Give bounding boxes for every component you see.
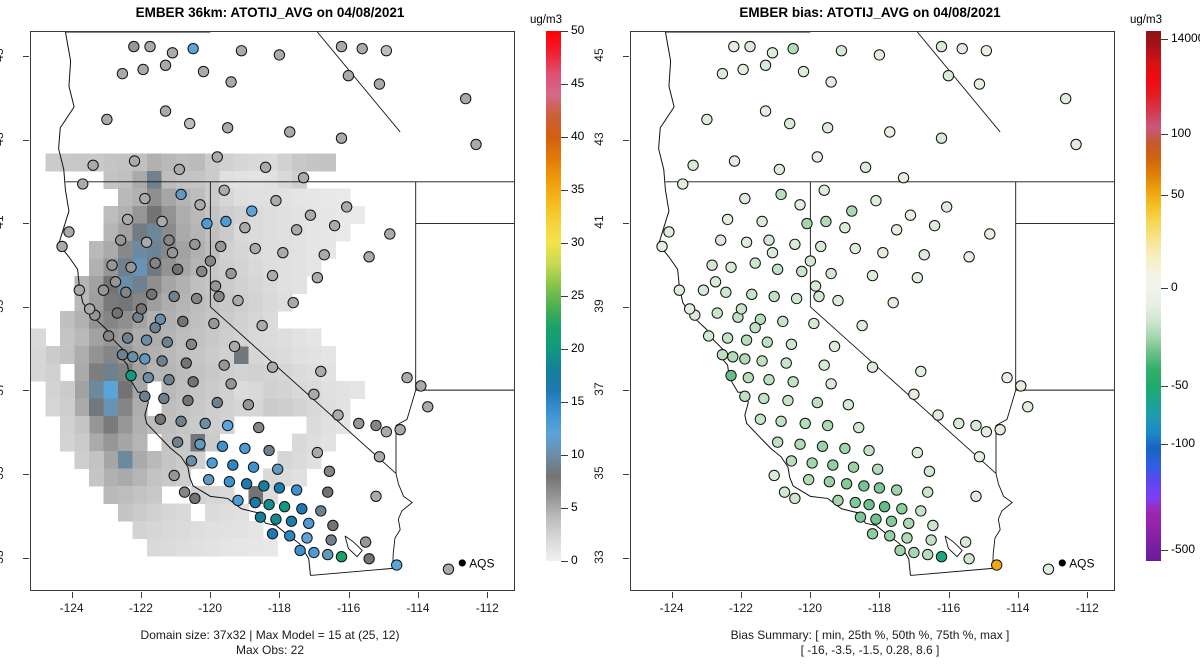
aqs-site-marker[interactable] — [891, 485, 901, 495]
aqs-site-marker[interactable] — [233, 495, 243, 505]
aqs-site-marker[interactable] — [264, 445, 274, 455]
aqs-site-marker[interactable] — [323, 487, 333, 497]
aqs-site-marker[interactable] — [250, 243, 260, 253]
aqs-site-marker[interactable] — [323, 549, 333, 559]
aqs-site-marker[interactable] — [88, 160, 98, 170]
aqs-site-marker[interactable] — [826, 379, 836, 389]
aqs-site-marker[interactable] — [302, 533, 312, 543]
aqs-site-marker[interactable] — [357, 43, 367, 53]
aqs-site-marker[interactable] — [769, 470, 779, 480]
aqs-site-marker[interactable] — [212, 152, 222, 162]
aqs-site-marker[interactable] — [136, 304, 146, 314]
aqs-site-marker[interactable] — [826, 77, 836, 87]
aqs-site-marker[interactable] — [873, 464, 883, 474]
aqs-site-marker[interactable] — [1071, 139, 1081, 149]
aqs-site-marker[interactable] — [971, 491, 981, 501]
aqs-site-marker[interactable] — [902, 533, 912, 543]
aqs-site-marker[interactable] — [229, 341, 239, 351]
aqs-site-marker[interactable] — [822, 420, 832, 430]
aqs-site-marker[interactable] — [874, 50, 884, 60]
aqs-site-marker[interactable] — [867, 529, 877, 539]
aqs-site-marker[interactable] — [740, 193, 750, 203]
aqs-site-marker[interactable] — [974, 452, 984, 462]
aqs-site-marker[interactable] — [874, 483, 884, 493]
aqs-site-marker[interactable] — [279, 502, 289, 512]
aqs-site-marker[interactable] — [336, 41, 346, 51]
aqs-site-marker[interactable] — [736, 304, 746, 314]
aqs-site-marker[interactable] — [188, 377, 198, 387]
aqs-site-marker[interactable] — [126, 370, 136, 380]
aqs-site-marker[interactable] — [897, 504, 907, 514]
aqs-site-marker[interactable] — [854, 422, 864, 432]
aqs-site-marker[interactable] — [128, 352, 138, 362]
aqs-site-marker[interactable] — [304, 518, 314, 528]
aqs-site-marker[interactable] — [374, 452, 384, 462]
aqs-site-marker[interactable] — [159, 393, 169, 403]
aqs-site-marker[interactable] — [183, 395, 193, 405]
aqs-site-marker[interactable] — [817, 441, 827, 451]
aqs-site-marker[interactable] — [140, 354, 150, 364]
aqs-site-marker[interactable] — [381, 427, 391, 437]
aqs-site-marker[interactable] — [757, 216, 767, 226]
aqs-site-marker[interactable] — [260, 162, 270, 172]
aqs-site-marker[interactable] — [964, 252, 974, 262]
aqs-site-marker[interactable] — [786, 456, 796, 466]
aqs-site-marker[interactable] — [750, 258, 760, 268]
aqs-site-marker[interactable] — [226, 77, 236, 87]
aqs-site-marker[interactable] — [974, 79, 984, 89]
aqs-site-marker[interactable] — [847, 206, 857, 216]
aqs-site-marker[interactable] — [155, 414, 165, 424]
aqs-site-marker[interactable] — [243, 400, 253, 410]
aqs-site-marker[interactable] — [928, 520, 938, 530]
aqs-site-marker[interactable] — [285, 127, 295, 137]
aqs-site-marker[interactable] — [879, 502, 889, 512]
aqs-site-marker[interactable] — [728, 352, 738, 362]
aqs-site-marker[interactable] — [416, 381, 426, 391]
aqs-site-marker[interactable] — [273, 464, 283, 474]
aqs-site-marker[interactable] — [371, 420, 381, 430]
aqs-site-marker[interactable] — [176, 416, 186, 426]
aqs-site-marker[interactable] — [150, 322, 160, 332]
aqs-site-marker[interactable] — [129, 41, 139, 51]
aqs-site-marker[interactable] — [57, 241, 67, 251]
aqs-site-marker[interactable] — [147, 289, 157, 299]
aqs-site-marker[interactable] — [985, 229, 995, 239]
aqs-site-marker[interactable] — [819, 360, 829, 370]
aqs-site-marker[interactable] — [209, 318, 219, 328]
aqs-site-marker[interactable] — [222, 123, 232, 133]
aqs-site-marker[interactable] — [179, 487, 189, 497]
aqs-site-marker[interactable] — [698, 285, 708, 295]
aqs-site-marker[interactable] — [233, 295, 243, 305]
aqs-site-marker[interactable] — [198, 66, 208, 76]
aqs-site-marker[interactable] — [160, 106, 170, 116]
aqs-site-marker[interactable] — [791, 293, 801, 303]
aqs-site-marker[interactable] — [717, 68, 727, 78]
aqs-site-marker[interactable] — [250, 497, 260, 507]
aqs-site-marker[interactable] — [919, 250, 929, 260]
aqs-site-marker[interactable] — [859, 481, 869, 491]
aqs-site-marker[interactable] — [326, 535, 336, 545]
aqs-site-marker[interactable] — [336, 552, 346, 562]
aqs-site-marker[interactable] — [84, 304, 94, 314]
aqs-site-marker[interactable] — [895, 545, 905, 555]
aqs-site-marker[interactable] — [909, 547, 919, 557]
aqs-site-marker[interactable] — [181, 358, 191, 368]
aqs-site-marker[interactable] — [178, 316, 188, 326]
aqs-site-marker[interactable] — [750, 322, 760, 332]
aqs-site-marker[interactable] — [960, 537, 970, 547]
aqs-site-marker[interactable] — [343, 71, 353, 81]
aqs-site-marker[interactable] — [684, 304, 694, 314]
aqs-site-marker[interactable] — [867, 362, 877, 372]
aqs-site-marker[interactable] — [267, 362, 277, 372]
aqs-site-marker[interactable] — [205, 256, 215, 266]
aqs-site-marker[interactable] — [717, 350, 727, 360]
aqs-site-marker[interactable] — [981, 427, 991, 437]
aqs-site-marker[interactable] — [167, 248, 177, 258]
aqs-site-marker[interactable] — [764, 235, 774, 245]
aqs-site-marker[interactable] — [117, 68, 127, 78]
aqs-site-marker[interactable] — [316, 366, 326, 376]
aqs-site-marker[interactable] — [103, 331, 113, 341]
aqs-site-marker[interactable] — [885, 531, 895, 541]
aqs-site-marker[interactable] — [305, 210, 315, 220]
aqs-site-marker[interactable] — [309, 389, 319, 399]
aqs-site-marker[interactable] — [760, 60, 770, 70]
aqs-site-marker[interactable] — [140, 391, 150, 401]
aqs-site-marker[interactable] — [160, 60, 170, 70]
aqs-site-marker[interactable] — [207, 458, 217, 468]
aqs-site-marker[interactable] — [703, 331, 713, 341]
aqs-site-marker[interactable] — [888, 297, 898, 307]
aqs-site-marker[interactable] — [226, 268, 236, 278]
aqs-site-marker[interactable] — [821, 216, 831, 226]
aqs-site-marker[interactable] — [857, 320, 867, 330]
aqs-site-marker[interactable] — [236, 46, 246, 56]
aqs-site-marker[interactable] — [264, 499, 274, 509]
aqs-site-marker[interactable] — [954, 418, 964, 428]
aqs-site-marker[interactable] — [122, 333, 132, 343]
aqs-site-marker[interactable] — [740, 391, 750, 401]
aqs-site-marker[interactable] — [716, 235, 726, 245]
aqs-site-marker[interactable] — [78, 179, 88, 189]
aqs-site-marker[interactable] — [129, 156, 139, 166]
aqs-site-marker[interactable] — [395, 424, 405, 434]
aqs-site-marker[interactable] — [333, 410, 343, 420]
aqs-site-marker[interactable] — [864, 499, 874, 509]
aqs-site-marker[interactable] — [222, 420, 232, 430]
aqs-site-marker[interactable] — [850, 497, 860, 507]
aqs-site-marker[interactable] — [885, 127, 895, 137]
aqs-site-marker[interactable] — [664, 227, 674, 237]
aqs-site-marker[interactable] — [923, 487, 933, 497]
aqs-site-marker[interactable] — [936, 133, 946, 143]
aqs-site-marker[interactable] — [98, 285, 108, 295]
aqs-site-marker[interactable] — [755, 414, 765, 424]
aqs-site-marker[interactable] — [924, 466, 934, 476]
aqs-site-marker[interactable] — [248, 462, 258, 472]
aqs-site-marker[interactable] — [295, 545, 305, 555]
aqs-site-marker[interactable] — [964, 554, 974, 564]
aqs-site-marker[interactable] — [943, 71, 953, 81]
aqs-site-marker[interactable] — [271, 514, 281, 524]
aqs-site-marker[interactable] — [762, 337, 772, 347]
aqs-site-marker[interactable] — [312, 273, 322, 283]
aqs-site-marker[interactable] — [871, 195, 881, 205]
aqs-site-marker[interactable] — [309, 547, 319, 557]
aqs-site-marker[interactable] — [214, 291, 224, 301]
aqs-site-marker[interactable] — [164, 375, 174, 385]
aqs-site-marker[interactable] — [807, 458, 817, 468]
aqs-site-marker[interactable] — [324, 466, 334, 476]
aqs-site-marker[interactable] — [864, 445, 874, 455]
aqs-site-marker[interactable] — [957, 43, 967, 53]
aqs-site-marker[interactable] — [1043, 564, 1053, 574]
aqs-site-marker[interactable] — [840, 223, 850, 233]
aqs-site-marker[interactable] — [795, 439, 805, 449]
aqs-site-marker[interactable] — [909, 389, 919, 399]
aqs-site-marker[interactable] — [740, 354, 750, 364]
aqs-site-marker[interactable] — [271, 195, 281, 205]
aqs-site-marker[interactable] — [797, 266, 807, 276]
aqs-site-marker[interactable] — [126, 262, 136, 272]
aqs-site-marker[interactable] — [802, 218, 812, 228]
aqs-site-marker[interactable] — [855, 512, 865, 522]
aqs-site-marker[interactable] — [767, 48, 777, 58]
aqs-site-marker[interactable] — [381, 46, 391, 56]
aqs-site-marker[interactable] — [191, 293, 201, 303]
aqs-site-marker[interactable] — [138, 64, 148, 74]
aqs-site-marker[interactable] — [886, 516, 896, 526]
aqs-site-marker[interactable] — [423, 402, 433, 412]
aqs-site-marker[interactable] — [726, 262, 736, 272]
aqs-site-marker[interactable] — [843, 400, 853, 410]
aqs-site-marker[interactable] — [926, 535, 936, 545]
aqs-site-marker[interactable] — [657, 241, 667, 251]
aqs-site-marker[interactable] — [785, 118, 795, 128]
aqs-site-marker[interactable] — [778, 316, 788, 326]
aqs-site-marker[interactable] — [254, 422, 264, 432]
aqs-site-marker[interactable] — [471, 139, 481, 149]
aqs-site-marker[interactable] — [157, 216, 167, 226]
aqs-site-marker[interactable] — [461, 93, 471, 103]
aqs-site-marker[interactable] — [286, 516, 296, 526]
aqs-site-marker[interactable] — [354, 418, 364, 428]
aqs-site-marker[interactable] — [117, 350, 127, 360]
aqs-site-marker[interactable] — [867, 270, 877, 280]
aqs-site-marker[interactable] — [912, 447, 922, 457]
aqs-site-marker[interactable] — [860, 162, 870, 172]
aqs-site-marker[interactable] — [328, 520, 338, 530]
aqs-site-marker[interactable] — [995, 424, 1005, 434]
aqs-site-marker[interactable] — [726, 370, 736, 380]
aqs-site-marker[interactable] — [219, 185, 229, 195]
aqs-site-marker[interactable] — [364, 554, 374, 564]
aqs-site-marker[interactable] — [64, 227, 74, 237]
aqs-site-marker[interactable] — [217, 441, 227, 451]
aqs-site-marker[interactable] — [210, 281, 220, 291]
aqs-site-marker[interactable] — [819, 185, 829, 195]
aqs-site-marker[interactable] — [102, 114, 112, 124]
aqs-site-marker[interactable] — [841, 479, 851, 489]
aqs-site-marker[interactable] — [285, 531, 295, 541]
aqs-site-marker[interactable] — [722, 214, 732, 224]
aqs-site-marker[interactable] — [186, 456, 196, 466]
aqs-site-marker[interactable] — [116, 235, 126, 245]
aqs-site-marker[interactable] — [747, 289, 757, 299]
aqs-site-marker[interactable] — [203, 474, 213, 484]
aqs-site-marker[interactable] — [812, 397, 822, 407]
aqs-site-marker[interactable] — [197, 266, 207, 276]
aqs-site-marker[interactable] — [776, 189, 786, 199]
aqs-site-marker[interactable] — [195, 439, 205, 449]
aqs-site-marker[interactable] — [226, 379, 236, 389]
aqs-site-marker[interactable] — [190, 493, 200, 503]
aqs-site-marker[interactable] — [916, 366, 926, 376]
aqs-site-marker[interactable] — [772, 264, 782, 274]
aqs-site-marker[interactable] — [1061, 93, 1071, 103]
aqs-site-marker[interactable] — [186, 339, 196, 349]
aqs-site-marker[interactable] — [172, 437, 182, 447]
aqs-site-marker[interactable] — [402, 372, 412, 382]
aqs-site-marker[interactable] — [141, 335, 151, 345]
aqs-site-marker[interactable] — [110, 277, 120, 287]
aqs-site-marker[interactable] — [829, 341, 839, 351]
aqs-site-marker[interactable] — [712, 308, 722, 318]
aqs-site-marker[interactable] — [833, 495, 843, 505]
aqs-site-marker[interactable] — [741, 335, 751, 345]
aqs-site-marker[interactable] — [795, 200, 805, 210]
aqs-site-marker[interactable] — [941, 202, 951, 212]
aqs-site-marker[interactable] — [257, 320, 267, 330]
aqs-site-marker[interactable] — [674, 285, 684, 295]
aqs-site-marker[interactable] — [174, 164, 184, 174]
aqs-site-marker[interactable] — [905, 210, 915, 220]
aqs-site-marker[interactable] — [112, 308, 122, 318]
aqs-site-marker[interactable] — [336, 133, 346, 143]
aqs-site-marker[interactable] — [202, 218, 212, 228]
aqs-site-marker[interactable] — [803, 474, 813, 484]
aqs-site-marker[interactable] — [312, 447, 322, 457]
aqs-site-marker[interactable] — [981, 46, 991, 56]
aqs-site-marker[interactable] — [936, 41, 946, 51]
aqs-site-marker[interactable] — [992, 560, 1002, 570]
aqs-site-marker[interactable] — [816, 241, 826, 251]
aqs-site-marker[interactable] — [898, 173, 908, 183]
aqs-site-marker[interactable] — [360, 537, 370, 547]
aqs-site-marker[interactable] — [779, 487, 789, 497]
aqs-site-marker[interactable] — [759, 393, 769, 403]
aqs-site-marker[interactable] — [814, 291, 824, 301]
aqs-site-marker[interactable] — [850, 243, 860, 253]
aqs-site-marker[interactable] — [240, 223, 250, 233]
aqs-site-marker[interactable] — [241, 479, 251, 489]
aqs-site-marker[interactable] — [221, 216, 231, 226]
aqs-site-marker[interactable] — [783, 395, 793, 405]
aqs-site-marker[interactable] — [790, 239, 800, 249]
aqs-site-marker[interactable] — [216, 241, 226, 251]
aqs-site-marker[interactable] — [936, 552, 946, 562]
aqs-site-marker[interactable] — [74, 285, 84, 295]
aqs-site-marker[interactable] — [786, 339, 796, 349]
aqs-site-marker[interactable] — [274, 483, 284, 493]
aqs-site-marker[interactable] — [190, 239, 200, 249]
aqs-site-marker[interactable] — [185, 118, 195, 128]
aqs-site-marker[interactable] — [291, 225, 301, 235]
aqs-site-marker[interactable] — [769, 291, 779, 301]
aqs-site-marker[interactable] — [195, 200, 205, 210]
aqs-site-marker[interactable] — [912, 273, 922, 283]
aqs-site-marker[interactable] — [167, 48, 177, 58]
aqs-site-marker[interactable] — [848, 462, 858, 472]
aqs-site-marker[interactable] — [267, 529, 277, 539]
aqs-site-marker[interactable] — [745, 41, 755, 51]
aqs-site-marker[interactable] — [916, 506, 926, 516]
aqs-site-marker[interactable] — [392, 560, 402, 570]
aqs-site-marker[interactable] — [385, 229, 395, 239]
aqs-site-marker[interactable] — [267, 270, 277, 280]
aqs-site-marker[interactable] — [122, 214, 132, 224]
aqs-site-marker[interactable] — [722, 333, 732, 343]
aqs-site-marker[interactable] — [298, 173, 308, 183]
aqs-site-marker[interactable] — [738, 64, 748, 74]
aqs-site-marker[interactable] — [169, 291, 179, 301]
aqs-site-marker[interactable] — [788, 377, 798, 387]
aqs-site-marker[interactable] — [297, 504, 307, 514]
aqs-site-marker[interactable] — [145, 41, 155, 51]
aqs-site-marker[interactable] — [809, 318, 819, 328]
aqs-site-marker[interactable] — [836, 46, 846, 56]
aqs-site-marker[interactable] — [274, 50, 284, 60]
aqs-site-marker[interactable] — [810, 281, 820, 291]
aqs-site-marker[interactable] — [371, 491, 381, 501]
aqs-site-marker[interactable] — [212, 397, 222, 407]
aqs-site-marker[interactable] — [219, 360, 229, 370]
aqs-site-marker[interactable] — [781, 358, 791, 368]
aqs-site-marker[interactable] — [788, 43, 798, 53]
aqs-site-marker[interactable] — [729, 156, 739, 166]
aqs-site-marker[interactable] — [176, 189, 186, 199]
aqs-site-marker[interactable] — [172, 264, 182, 274]
aqs-site-marker[interactable] — [790, 493, 800, 503]
aqs-site-marker[interactable] — [772, 437, 782, 447]
aqs-site-marker[interactable] — [141, 237, 151, 247]
aqs-site-marker[interactable] — [826, 268, 836, 278]
aqs-site-marker[interactable] — [1016, 381, 1026, 391]
aqs-site-marker[interactable] — [741, 237, 751, 247]
aqs-site-marker[interactable] — [721, 287, 731, 297]
aqs-site-marker[interactable] — [200, 418, 210, 428]
aqs-site-marker[interactable] — [923, 549, 933, 559]
aqs-site-marker[interactable] — [812, 152, 822, 162]
aqs-site-marker[interactable] — [971, 420, 981, 430]
aqs-site-marker[interactable] — [840, 443, 850, 453]
aqs-site-marker[interactable] — [169, 470, 179, 480]
aqs-site-marker[interactable] — [255, 512, 265, 522]
aqs-site-marker[interactable] — [933, 410, 943, 420]
aqs-site-marker[interactable] — [805, 256, 815, 266]
aqs-site-marker[interactable] — [364, 252, 374, 262]
aqs-site-marker[interactable] — [891, 225, 901, 235]
aqs-site-marker[interactable] — [710, 277, 720, 287]
aqs-site-marker[interactable] — [764, 375, 774, 385]
aqs-site-marker[interactable] — [729, 41, 739, 51]
aqs-site-marker[interactable] — [316, 506, 326, 516]
aqs-site-marker[interactable] — [278, 248, 288, 258]
aqs-site-marker[interactable] — [259, 481, 269, 491]
